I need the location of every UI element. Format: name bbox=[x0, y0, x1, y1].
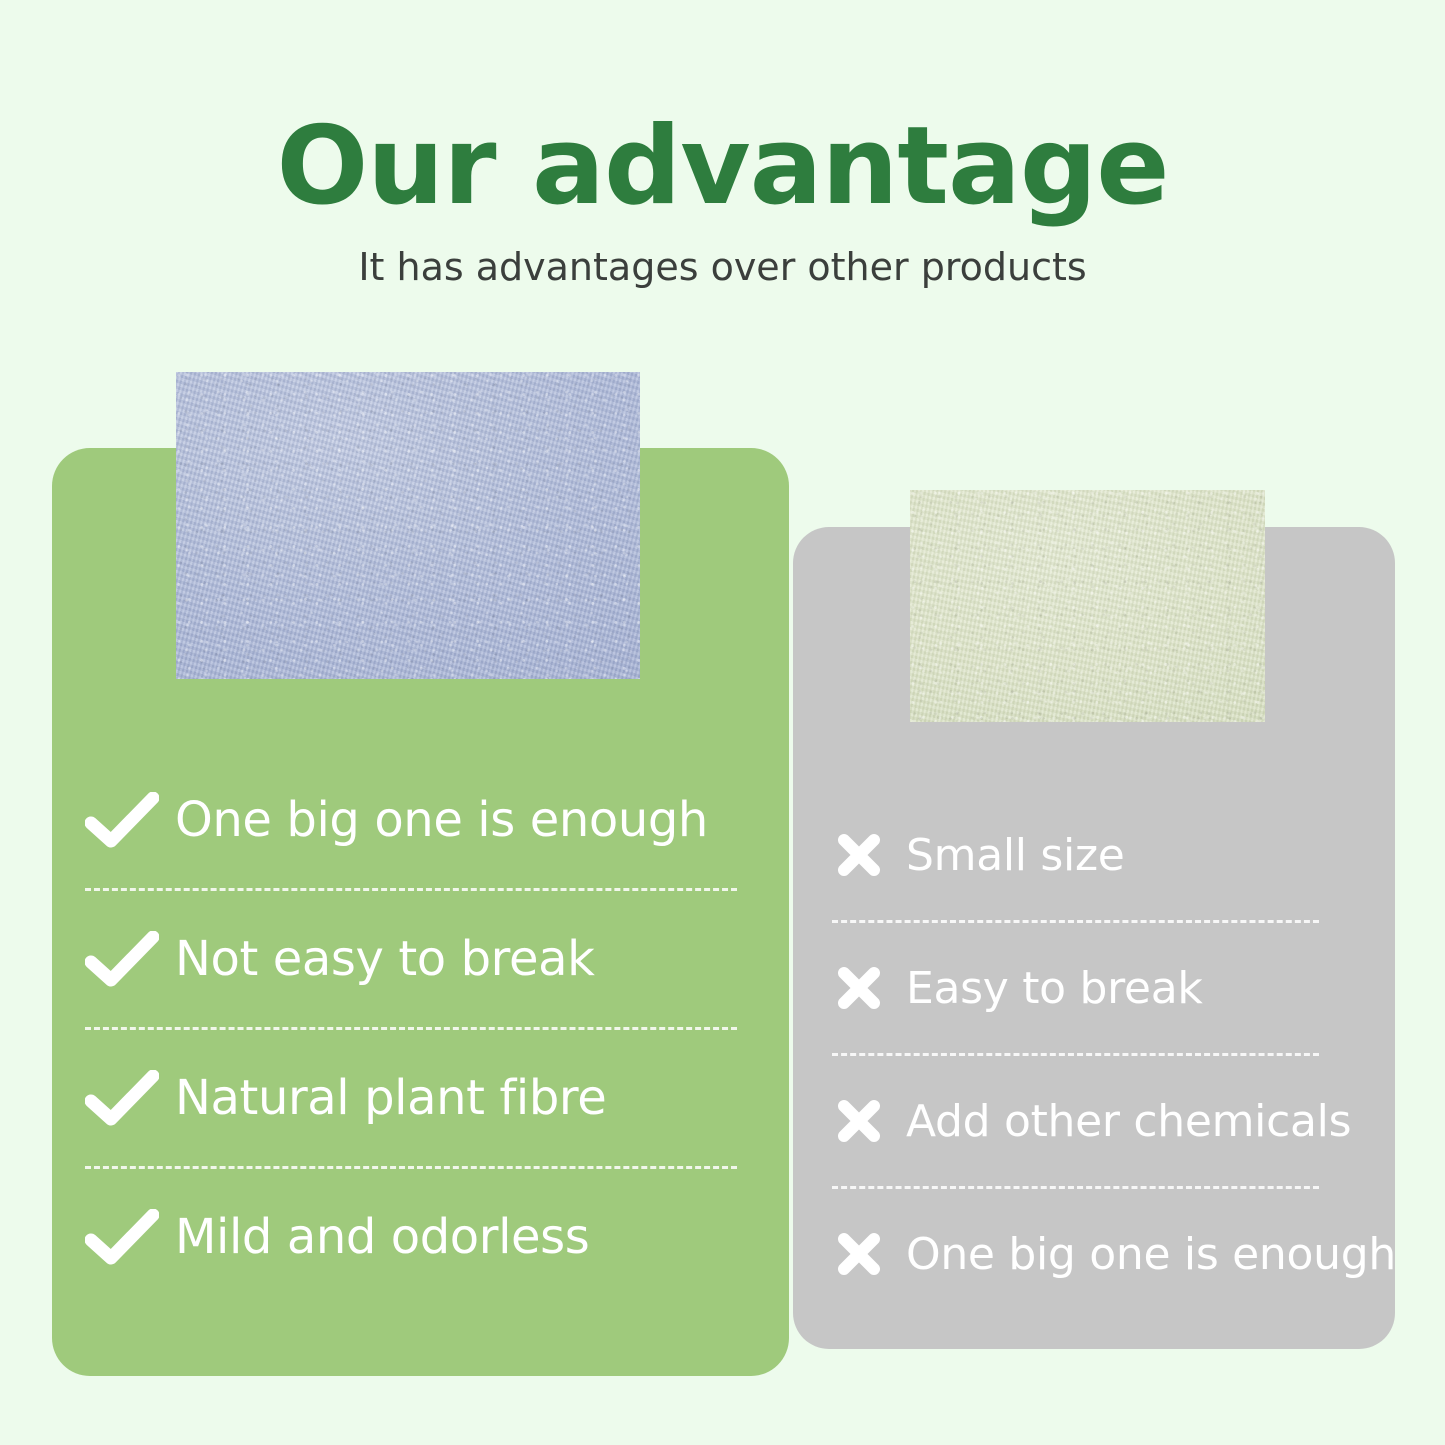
cross-icon bbox=[832, 965, 886, 1011]
list-item-label: Add other chemicals bbox=[906, 1096, 1351, 1147]
list-item-label: Natural plant fibre bbox=[175, 1070, 606, 1126]
list-item-label: Easy to break bbox=[906, 963, 1203, 1014]
list-item: Easy to break bbox=[832, 923, 1395, 1053]
check-icon bbox=[85, 931, 159, 987]
cross-icon bbox=[832, 1231, 886, 1277]
check-icon bbox=[85, 792, 159, 848]
advantage-list: One big one is enough Not easy to break … bbox=[85, 752, 737, 1305]
list-item: Small size bbox=[832, 790, 1395, 920]
list-item-label: One big one is enough bbox=[175, 792, 708, 848]
page-title: Our advantage bbox=[0, 110, 1445, 223]
blue-cloth-swatch bbox=[176, 372, 640, 679]
page-subtitle: It has advantages over other products bbox=[0, 245, 1445, 289]
list-item: Not easy to break bbox=[85, 891, 737, 1027]
check-icon bbox=[85, 1209, 159, 1265]
list-item: One big one is enough bbox=[832, 1189, 1395, 1319]
list-item-label: Small size bbox=[906, 830, 1125, 881]
cross-icon bbox=[832, 1098, 886, 1144]
list-item: One big one is enough bbox=[85, 752, 737, 888]
cross-icon bbox=[832, 832, 886, 878]
list-item: Add other chemicals bbox=[832, 1056, 1395, 1186]
cloth-texture-overlay bbox=[176, 372, 640, 679]
list-item-label: One big one is enough bbox=[906, 1229, 1396, 1280]
list-item: Mild and odorless bbox=[85, 1169, 737, 1305]
header: Our advantage It has advantages over oth… bbox=[0, 110, 1445, 289]
list-item-label: Not easy to break bbox=[175, 931, 595, 987]
green-cloth-swatch bbox=[910, 490, 1265, 722]
disadvantage-list: Small size Easy to break Add other chemi… bbox=[832, 790, 1395, 1319]
cloth-texture-overlay bbox=[910, 490, 1265, 722]
check-icon bbox=[85, 1070, 159, 1126]
list-item-label: Mild and odorless bbox=[175, 1209, 589, 1265]
list-item: Natural plant fibre bbox=[85, 1030, 737, 1166]
